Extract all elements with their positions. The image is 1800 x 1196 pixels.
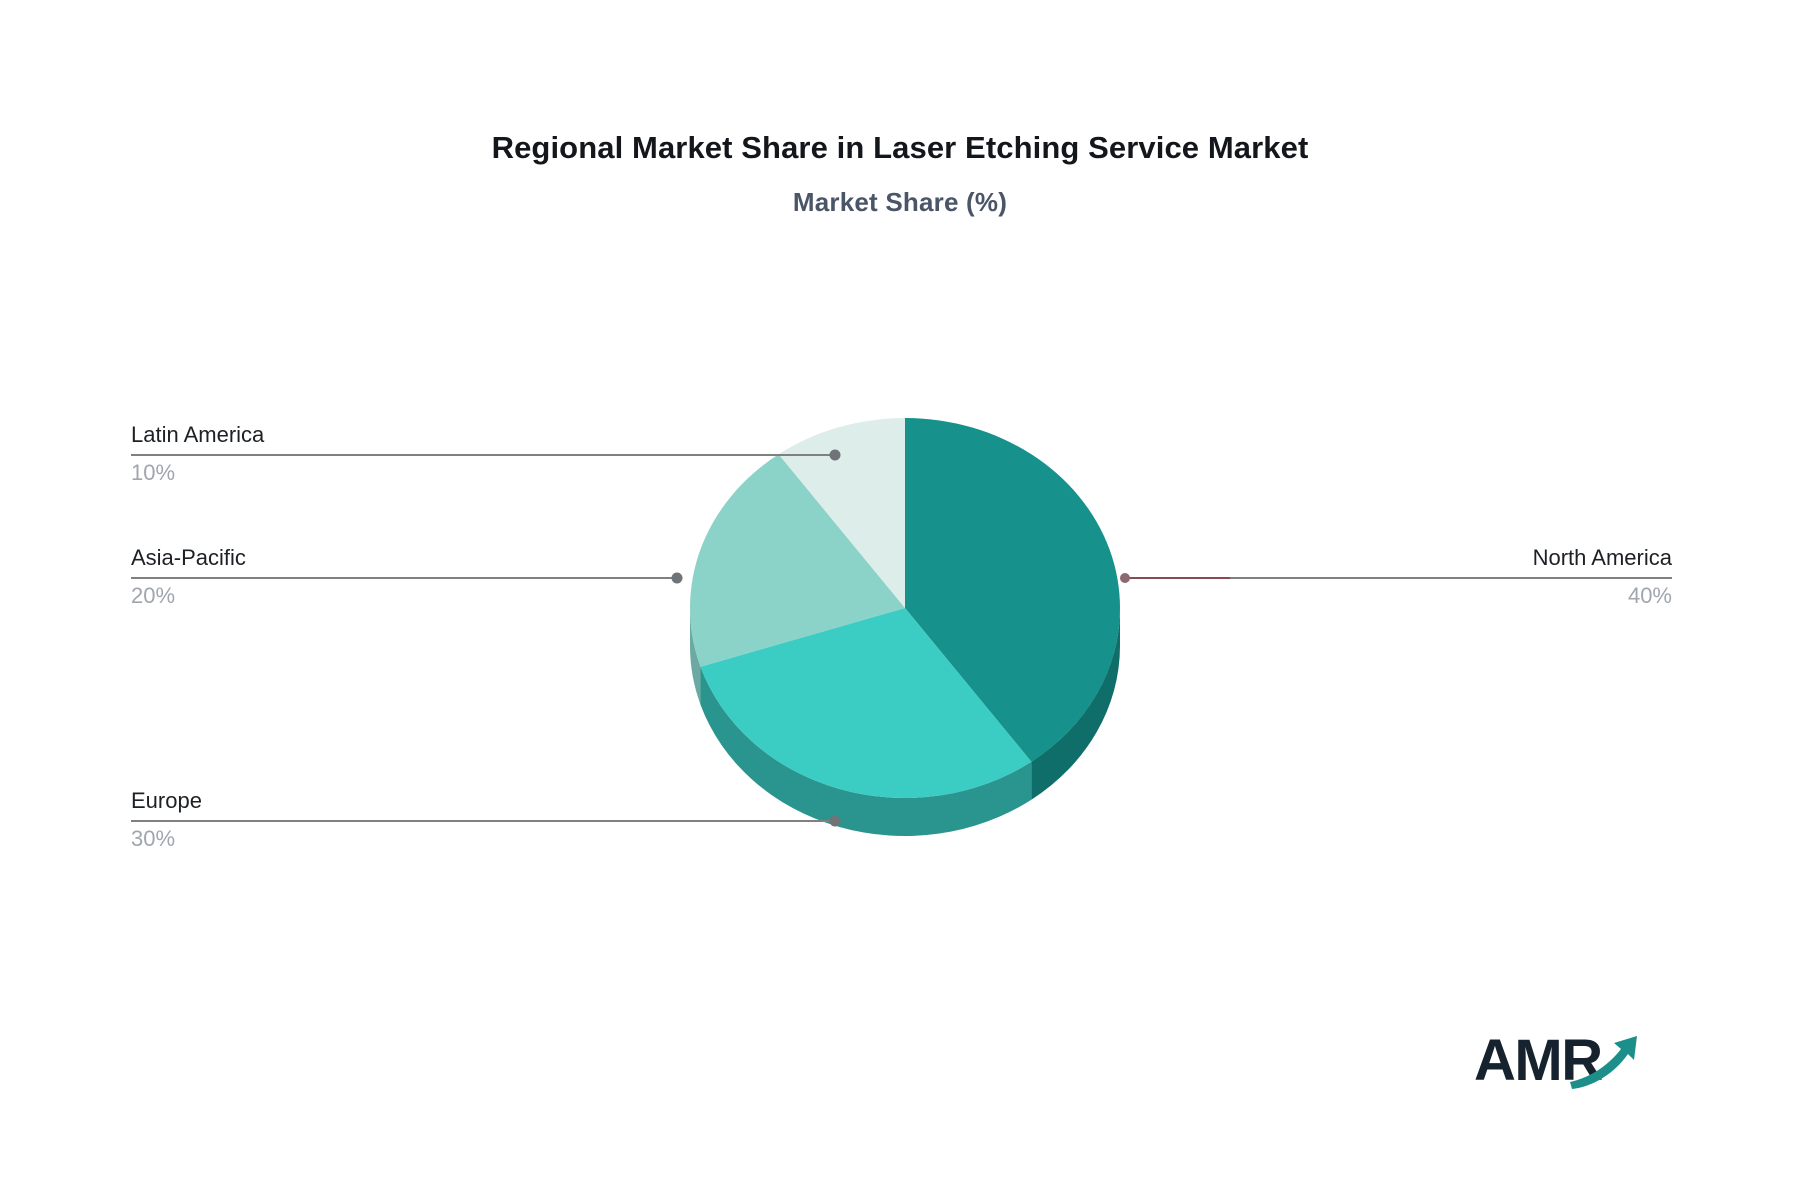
- chart-title: Regional Market Share in Laser Etching S…: [0, 130, 1800, 166]
- leader-dot-north-america: [1120, 573, 1130, 583]
- leader-dot-europe: [830, 816, 841, 827]
- pie-side-europe: [701, 667, 1032, 836]
- callout-asia-pacific[interactable]: Asia-Pacific 20%: [131, 543, 246, 611]
- callout-latin-america[interactable]: Latin America 10%: [131, 420, 264, 488]
- callout-value-europe: 30%: [131, 816, 202, 854]
- pie-side-asia-pacific: [690, 608, 701, 705]
- pie-3d-side-walls: [690, 608, 1120, 836]
- pie-slice-europe[interactable]: [701, 608, 1032, 798]
- amr-logo[interactable]: AMR: [1474, 1030, 1654, 1100]
- leader-dot-asia-pacific: [672, 573, 683, 584]
- leader-lines: [131, 450, 1672, 827]
- callout-label-north-america: North America: [1533, 543, 1672, 573]
- callout-value-north-america: 40%: [1533, 573, 1672, 611]
- pie-chart-graphic: [0, 0, 1800, 1196]
- pie-slice-latin-america[interactable]: [779, 418, 905, 608]
- pie-top-face: [690, 418, 1120, 798]
- callout-value-latin-america: 10%: [131, 450, 264, 488]
- callout-label-asia-pacific: Asia-Pacific: [131, 543, 246, 573]
- pie-side-north-america: [1031, 608, 1120, 800]
- leader-dot-latin-america: [830, 450, 841, 461]
- callout-label-latin-america: Latin America: [131, 420, 264, 450]
- callout-europe[interactable]: Europe 30%: [131, 786, 202, 854]
- pie-slice-north-america[interactable]: [905, 418, 1120, 762]
- callout-north-america[interactable]: North America 40%: [1533, 543, 1672, 611]
- chart-canvas: Regional Market Share in Laser Etching S…: [0, 0, 1800, 1196]
- pie-slice-asia-pacific[interactable]: [690, 454, 905, 666]
- chart-subtitle: Market Share (%): [0, 187, 1800, 218]
- callout-value-asia-pacific: 20%: [131, 573, 246, 611]
- callout-label-europe: Europe: [131, 786, 202, 816]
- growth-arrow-icon: [1474, 1030, 1654, 1100]
